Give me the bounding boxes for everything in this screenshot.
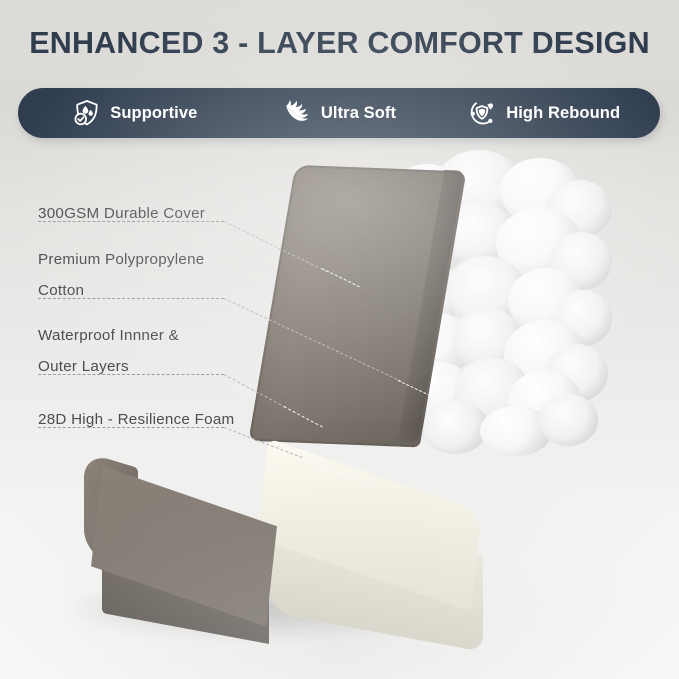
callout-cotton-line2: Cotton: [38, 275, 204, 306]
seat-cushion: [86, 430, 468, 630]
page-title: ENHANCED 3 - LAYER COMFORT DESIGN: [0, 26, 679, 61]
feature-badge-label: High Rebound: [506, 104, 620, 123]
callout-layers-underline: [38, 374, 224, 375]
callout-foam: 28D High - Resilience Foam: [38, 404, 234, 435]
feature-badge-label: Supportive: [110, 104, 197, 123]
feature-badge-high-rebound: High Rebound: [441, 98, 646, 128]
backrest-cushion: [248, 168, 448, 450]
feature-badge-label: Ultra Soft: [321, 104, 396, 123]
callout-cover: 300GSM Durable Cover: [38, 198, 205, 229]
feature-bar: Supportive Ultra Soft High Rebound: [18, 88, 660, 138]
callout-layers-line2: Outer Layers: [38, 351, 179, 382]
callout-cotton-line1: Premium Polypropylene: [38, 251, 204, 268]
callout-cover-underline: [38, 221, 224, 222]
callout-cover-line1: 300GSM Durable Cover: [38, 205, 205, 222]
callout-layers-line1: Waterproof Innner &: [38, 327, 179, 344]
feature-badge-supportive: Supportive: [32, 98, 237, 128]
callout-foam-underline: [38, 427, 224, 428]
callout-foam-line1: 28D High - Resilience Foam: [38, 411, 234, 428]
feature-badge-ultra-soft: Ultra Soft: [237, 98, 442, 128]
callout-cotton: Premium Polypropylene Cotton: [38, 244, 204, 306]
product-infographic: ENHANCED 3 - LAYER COMFORT DESIGN Suppor…: [0, 0, 679, 679]
feather-icon: [282, 98, 312, 128]
callout-cotton-underline: [38, 298, 224, 299]
shield-orbit-icon: [467, 98, 497, 128]
shield-droplet-check-icon: [71, 98, 101, 128]
callout-layers: Waterproof Innner & Outer Layers: [38, 320, 179, 382]
seat-surfaces: [86, 430, 468, 630]
